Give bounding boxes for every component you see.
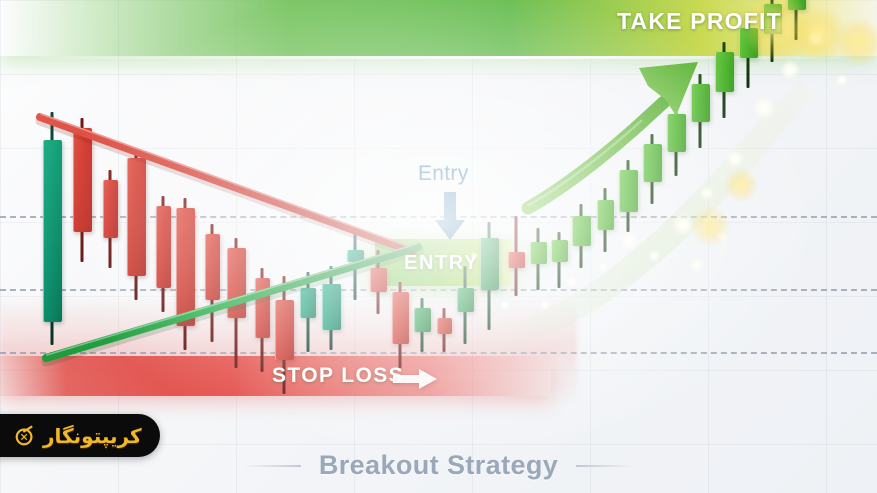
candle-body (255, 278, 270, 338)
candle (414, 298, 431, 352)
candle (530, 228, 547, 290)
candle-body (437, 318, 452, 334)
candle-body (73, 128, 92, 232)
candle (255, 268, 270, 372)
candle-body (480, 238, 499, 290)
sparkle-icon (620, 232, 638, 250)
candle (73, 118, 92, 262)
stop-loss-label: STOP LOSS (272, 364, 404, 388)
candle (370, 250, 387, 314)
candle-body (508, 252, 525, 268)
candle (347, 232, 364, 300)
footer-rule-right (576, 465, 634, 467)
candle (551, 232, 568, 288)
candle-body (370, 268, 387, 292)
candle (643, 134, 662, 204)
candle-body (643, 144, 662, 182)
candle-body (715, 52, 734, 92)
candle-body (43, 140, 62, 322)
candle-body (597, 200, 614, 230)
candle (127, 148, 146, 300)
candle (480, 222, 499, 330)
candle (457, 266, 474, 344)
candle-body (457, 288, 474, 312)
candle-body (127, 158, 146, 276)
candle (437, 308, 452, 352)
candle-body (667, 114, 686, 152)
candle-body (530, 242, 547, 264)
candle (322, 266, 341, 350)
candle (43, 112, 62, 345)
candle (572, 204, 591, 268)
candle (300, 272, 316, 352)
candle-body (322, 284, 341, 330)
gold-glow (690, 206, 730, 246)
candle-body (227, 248, 246, 318)
candle-body (205, 234, 220, 300)
sparkle-icon (836, 74, 848, 86)
sparkle-icon (780, 60, 800, 80)
candle-body (619, 170, 638, 212)
candle-body (392, 292, 409, 344)
candle (597, 188, 614, 252)
candle (508, 216, 525, 296)
candle-body (300, 288, 316, 318)
candle (103, 170, 118, 268)
sparkle-icon (500, 300, 510, 310)
candle (691, 74, 710, 148)
sparkle-icon (648, 250, 660, 262)
candle-body (103, 180, 118, 238)
stop-level (0, 352, 877, 354)
sparkle-icon (540, 300, 550, 310)
candle (619, 160, 638, 232)
sparkle-icon (690, 258, 704, 272)
gold-glow (724, 168, 758, 202)
candle-body (156, 206, 171, 288)
sparkle-icon (700, 186, 714, 200)
candle (667, 106, 686, 176)
candle-body (414, 308, 431, 332)
gold-glow (836, 18, 877, 66)
candle-wick (354, 232, 357, 300)
watermark-label: کریپتونگار (43, 424, 142, 448)
down-arrow-icon (435, 192, 465, 240)
entry-callout-label: Entry (418, 162, 469, 186)
candle (227, 238, 246, 368)
sparkle-icon (726, 150, 744, 168)
gold-coin-icon (14, 425, 36, 447)
candle (205, 224, 220, 342)
sparkle-icon (566, 276, 578, 288)
candle-body (691, 84, 710, 122)
sparkle-icon (752, 96, 776, 120)
sparkle-icon (598, 262, 608, 272)
candle-body (176, 208, 195, 326)
chart-canvas: TAKE PROFIT ENTRY STOP LOSS Entry Breako… (0, 0, 877, 493)
footer-rule-left (243, 465, 301, 467)
candle-body (572, 216, 591, 246)
candle-body (275, 300, 294, 360)
candle-body (347, 250, 364, 262)
watermark-badge[interactable]: کریپتونگار (0, 414, 160, 457)
page-title: Breakout Strategy (319, 450, 558, 481)
candle (392, 282, 409, 368)
candle (176, 198, 195, 350)
candle (715, 42, 734, 118)
take-profit-label: TAKE PROFIT (617, 8, 782, 35)
candle-body (551, 240, 568, 262)
right-arrow-icon (393, 369, 437, 389)
candle (156, 196, 171, 312)
entry-zone-label: ENTRY (404, 252, 479, 275)
